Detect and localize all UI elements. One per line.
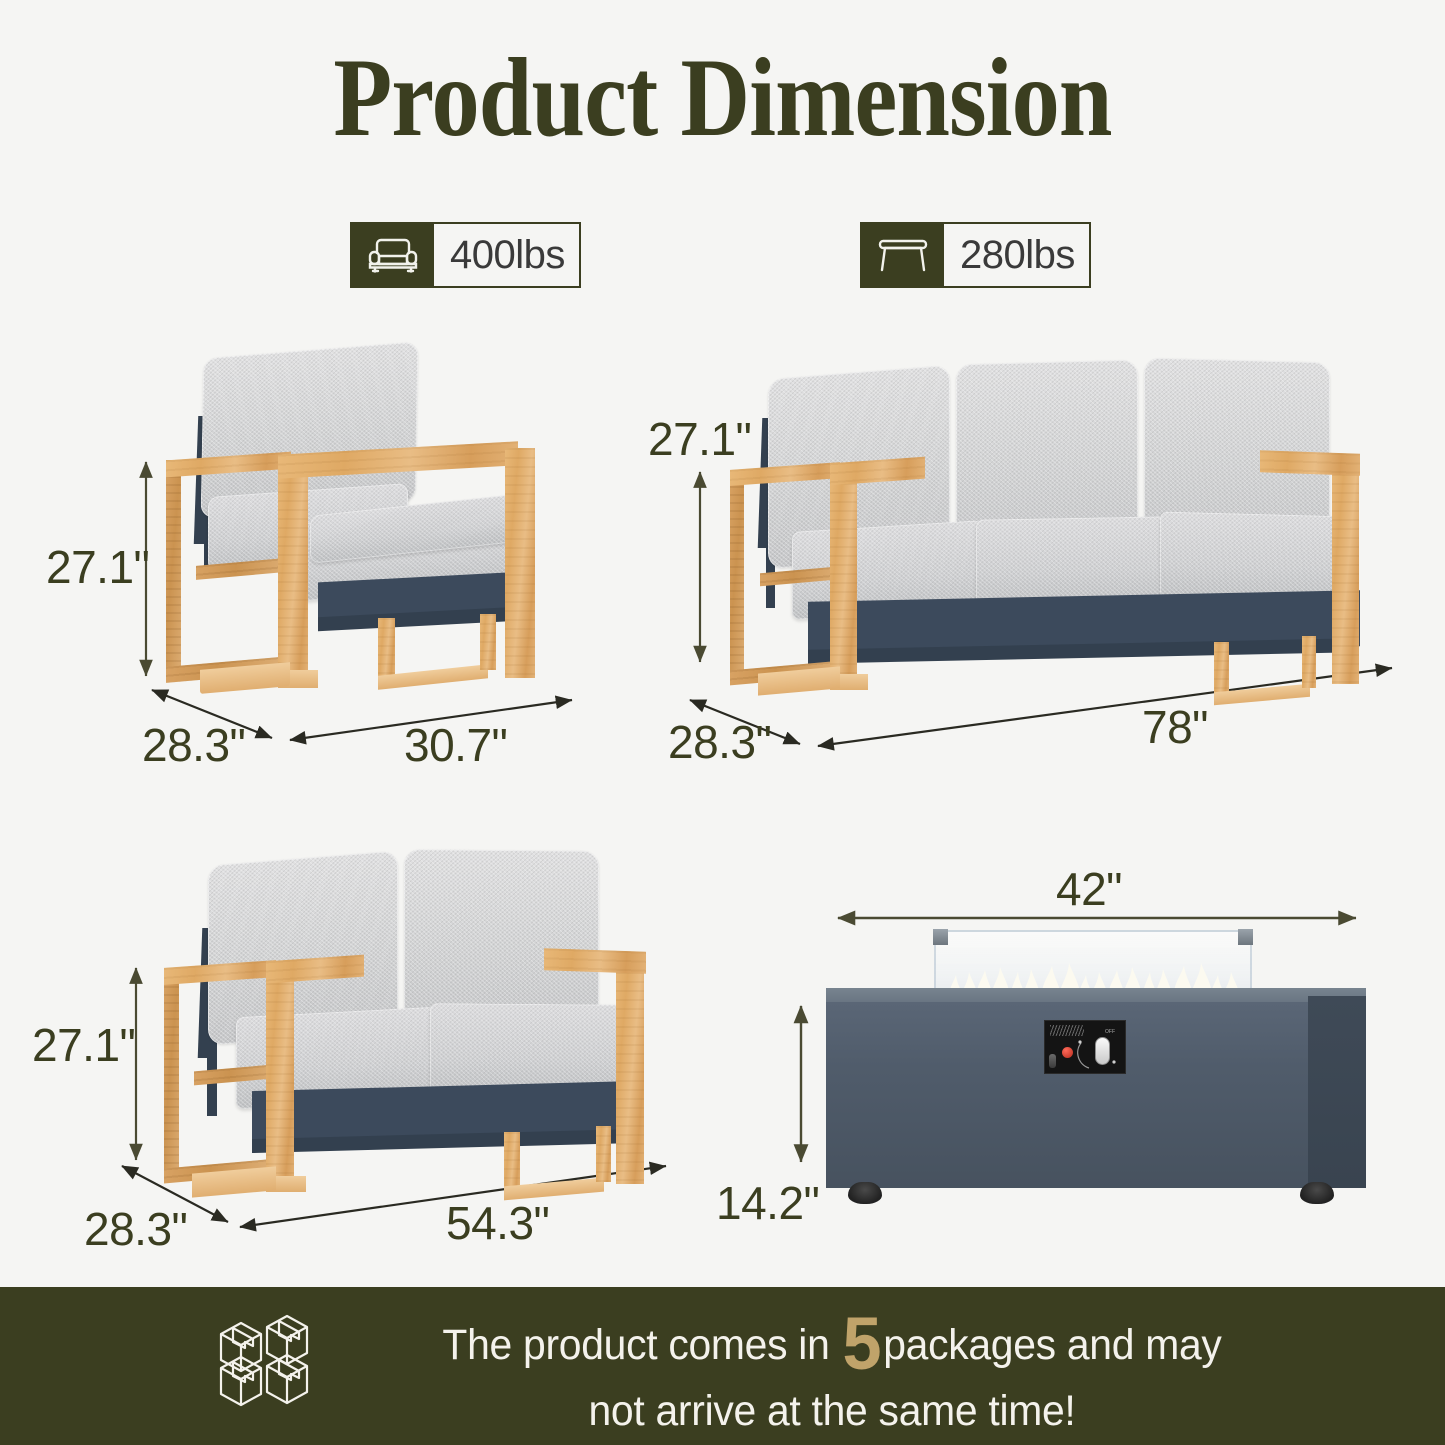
packages-icon	[215, 1308, 333, 1425]
leveling-foot	[848, 1182, 882, 1204]
banner-text-after: packages and may	[883, 1321, 1221, 1369]
banner-text-before: The product comes in	[442, 1321, 840, 1369]
shipping-banner-text: The product comes in 5packages and may n…	[361, 1295, 1417, 1438]
armchair-width-label: 30.7"	[404, 718, 507, 772]
fire-pit-control-panel[interactable]: OFF	[1044, 1020, 1126, 1074]
armchair-height-label: 27.1"	[46, 540, 149, 594]
sofa-height-label: 27.1"	[648, 412, 751, 466]
package-count: 5	[841, 1299, 884, 1389]
product-loveseat	[152, 846, 672, 1176]
leveling-foot	[1300, 1182, 1334, 1204]
product-three-seat-sofa	[720, 358, 1360, 658]
product-fire-pit-table: OFF	[826, 930, 1366, 1200]
shipping-banner: The product comes in 5packages and may n…	[0, 1287, 1445, 1445]
armchair-depth-label: 28.3"	[142, 718, 245, 772]
loveseat-width-label: 54.3"	[446, 1196, 549, 1250]
loveseat-height-label: 27.1"	[32, 1018, 135, 1072]
banner-line-two: not arrive at the same time!	[589, 1387, 1076, 1435]
svg-text:OFF: OFF	[1105, 1029, 1115, 1035]
firepit-height-label: 14.2"	[716, 1176, 819, 1230]
loveseat-depth-label: 28.3"	[84, 1202, 187, 1256]
sofa-depth-label: 28.3"	[668, 715, 771, 769]
infographic-canvas: Product Dimension 400lbs 280lbs	[0, 0, 1445, 1445]
firepit-width-label: 42"	[1056, 862, 1122, 916]
sofa-width-label: 78"	[1142, 700, 1208, 754]
